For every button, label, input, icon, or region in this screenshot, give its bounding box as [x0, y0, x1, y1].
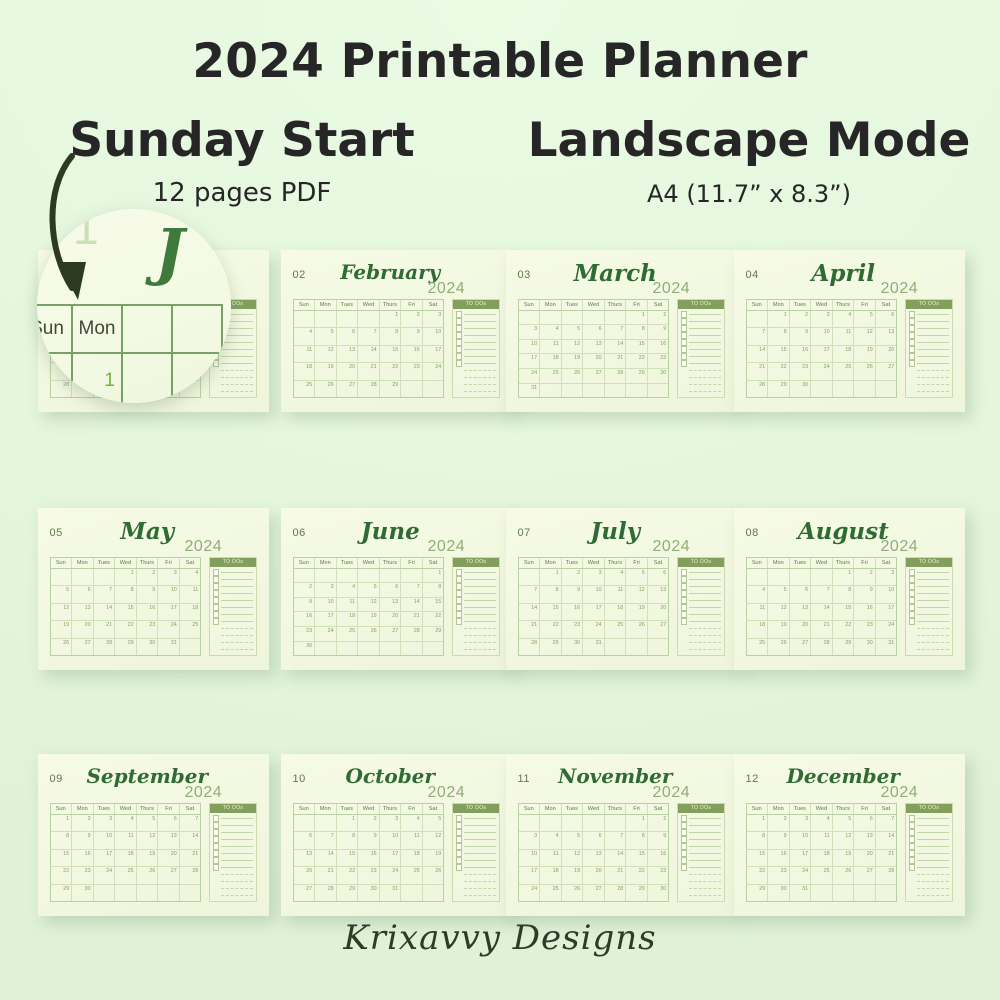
- day-cell[interactable]: 29: [626, 369, 648, 383]
- day-cell[interactable]: [562, 311, 584, 325]
- todo-row[interactable]: [213, 604, 254, 611]
- checkbox-icon[interactable]: [456, 843, 463, 850]
- day-cell[interactable]: [626, 384, 648, 398]
- checkbox-icon[interactable]: [213, 829, 220, 836]
- day-cell[interactable]: [180, 885, 201, 901]
- day-cell[interactable]: 23: [137, 621, 159, 637]
- day-cell[interactable]: 22: [626, 354, 648, 368]
- day-cell[interactable]: 10: [380, 832, 402, 848]
- day-cell[interactable]: 10: [423, 328, 444, 344]
- todo-row[interactable]: [213, 829, 254, 836]
- day-cell[interactable]: [540, 815, 562, 831]
- todo-row[interactable]: [681, 618, 722, 625]
- checkbox-icon[interactable]: [681, 332, 688, 339]
- checkbox-icon[interactable]: [213, 864, 220, 871]
- day-cell[interactable]: 12: [137, 832, 159, 848]
- checkbox-icon[interactable]: [681, 604, 688, 611]
- day-cell[interactable]: 14: [315, 850, 337, 866]
- todo-row-dashed[interactable]: [681, 367, 722, 374]
- day-cell[interactable]: 25: [337, 627, 359, 641]
- day-cell[interactable]: 10: [876, 586, 897, 602]
- todo-row[interactable]: [456, 836, 497, 843]
- todo-row-dashed[interactable]: [213, 878, 254, 885]
- checkbox-icon[interactable]: [909, 346, 916, 353]
- day-cell[interactable]: [648, 639, 669, 655]
- todo-row-dashed[interactable]: [213, 892, 254, 899]
- day-cell[interactable]: 22: [833, 621, 855, 637]
- day-cell[interactable]: 2: [72, 815, 94, 831]
- checkbox-icon[interactable]: [909, 597, 916, 604]
- day-cell[interactable]: 11: [605, 586, 627, 602]
- checkbox-icon[interactable]: [909, 569, 916, 576]
- checkbox-icon[interactable]: [213, 590, 220, 597]
- todo-row-dashed[interactable]: [681, 374, 722, 381]
- day-cell[interactable]: 21: [358, 363, 380, 379]
- checkbox-icon[interactable]: [213, 857, 220, 864]
- day-cell[interactable]: 6: [72, 586, 94, 602]
- day-cell[interactable]: 29: [51, 885, 73, 901]
- checkbox-icon[interactable]: [456, 339, 463, 346]
- day-cell[interactable]: 29: [423, 627, 444, 641]
- calendar-card-february[interactable]: 02February2024SunMonTuesWedThursFriSat12…: [281, 250, 512, 412]
- day-cell[interactable]: 14: [180, 832, 201, 848]
- day-cell[interactable]: 11: [747, 604, 769, 620]
- day-cell[interactable]: 17: [94, 850, 116, 866]
- day-cell[interactable]: 22: [768, 363, 790, 379]
- day-cell[interactable]: 30: [137, 639, 159, 655]
- todo-row[interactable]: [456, 360, 497, 367]
- day-cell[interactable]: 7: [605, 325, 627, 339]
- day-cell[interactable]: 30: [358, 885, 380, 901]
- day-cell[interactable]: 14: [401, 598, 423, 612]
- day-cell[interactable]: 11: [401, 832, 423, 848]
- checkbox-icon[interactable]: [213, 611, 220, 618]
- day-cell[interactable]: 1: [115, 569, 137, 585]
- day-cell[interactable]: 3: [158, 569, 180, 585]
- checkbox-icon[interactable]: [213, 836, 220, 843]
- todo-row-dashed[interactable]: [456, 646, 497, 653]
- day-cell[interactable]: 27: [583, 885, 605, 901]
- day-cell[interactable]: 9: [137, 586, 159, 602]
- day-cell[interactable]: 6: [583, 325, 605, 339]
- todo-row-dashed[interactable]: [909, 381, 950, 388]
- day-cell[interactable]: [876, 381, 897, 397]
- day-cell[interactable]: 29: [833, 639, 855, 655]
- day-cell[interactable]: 23: [294, 627, 316, 641]
- day-cell[interactable]: 23: [401, 363, 423, 379]
- day-cell[interactable]: [72, 569, 94, 585]
- todo-row[interactable]: [456, 843, 497, 850]
- day-cell[interactable]: 11: [115, 832, 137, 848]
- day-cell[interactable]: 21: [605, 867, 627, 883]
- day-cell[interactable]: 26: [562, 885, 584, 901]
- day-cell[interactable]: 23: [358, 867, 380, 883]
- checkbox-icon[interactable]: [681, 864, 688, 871]
- day-cell[interactable]: 22: [115, 621, 137, 637]
- todo-row[interactable]: [213, 822, 254, 829]
- day-cell[interactable]: 18: [833, 346, 855, 362]
- todo-row[interactable]: [456, 569, 497, 576]
- todo-row[interactable]: [681, 339, 722, 346]
- calendar-card-december[interactable]: 12December2024SunMonTuesWedThursFriSat12…: [734, 754, 965, 916]
- day-cell[interactable]: 20: [380, 612, 402, 626]
- day-cell[interactable]: 4: [540, 832, 562, 848]
- day-cell[interactable]: 6: [583, 832, 605, 848]
- todo-row-dashed[interactable]: [213, 625, 254, 632]
- day-cell[interactable]: 21: [519, 621, 541, 637]
- day-cell[interactable]: [401, 885, 423, 901]
- todo-row-dashed[interactable]: [456, 381, 497, 388]
- todo-row[interactable]: [681, 332, 722, 339]
- day-cell[interactable]: 16: [648, 340, 669, 354]
- day-cell[interactable]: 7: [315, 832, 337, 848]
- day-cell[interactable]: 4: [294, 328, 316, 344]
- day-cell[interactable]: 3: [519, 325, 541, 339]
- day-cell[interactable]: 10: [315, 598, 337, 612]
- todo-row[interactable]: [681, 325, 722, 332]
- todo-row-dashed[interactable]: [909, 388, 950, 395]
- todo-row[interactable]: [456, 346, 497, 353]
- day-cell[interactable]: 2: [854, 569, 876, 585]
- day-cell[interactable]: 9: [401, 328, 423, 344]
- day-cell[interactable]: 1: [51, 815, 73, 831]
- day-cell[interactable]: 6: [854, 815, 876, 831]
- day-cell[interactable]: 4: [115, 815, 137, 831]
- day-cell[interactable]: 18: [180, 604, 201, 620]
- todo-row[interactable]: [681, 576, 722, 583]
- todo-row[interactable]: [909, 850, 950, 857]
- day-cell[interactable]: 11: [294, 346, 316, 362]
- day-cell[interactable]: 20: [337, 363, 359, 379]
- todo-row[interactable]: [213, 618, 254, 625]
- day-cell[interactable]: 24: [811, 363, 833, 379]
- day-cell[interactable]: [315, 569, 337, 583]
- day-cell[interactable]: 15: [337, 850, 359, 866]
- day-cell[interactable]: [876, 885, 897, 901]
- todo-row-dashed[interactable]: [681, 388, 722, 395]
- day-cell[interactable]: 4: [180, 569, 201, 585]
- day-cell[interactable]: [854, 381, 876, 397]
- day-cell[interactable]: 11: [180, 586, 201, 602]
- day-cell[interactable]: 7: [605, 832, 627, 848]
- day-cell[interactable]: 26: [562, 369, 584, 383]
- day-cell[interactable]: 1: [626, 311, 648, 325]
- day-cell[interactable]: 21: [401, 612, 423, 626]
- day-cell[interactable]: 21: [180, 850, 201, 866]
- day-cell[interactable]: 2: [648, 311, 669, 325]
- day-cell[interactable]: 6: [790, 586, 812, 602]
- checkbox-icon[interactable]: [681, 353, 688, 360]
- calendar-card-may[interactable]: 05May2024SunMonTuesWedThursFriSat1234567…: [38, 508, 269, 670]
- day-cell[interactable]: 13: [158, 832, 180, 848]
- day-cell[interactable]: 30: [294, 642, 316, 656]
- day-cell[interactable]: 18: [540, 354, 562, 368]
- day-cell[interactable]: 14: [605, 850, 627, 866]
- todo-row[interactable]: [456, 318, 497, 325]
- todo-row[interactable]: [456, 590, 497, 597]
- day-cell[interactable]: 13: [583, 340, 605, 354]
- day-cell[interactable]: 19: [833, 850, 855, 866]
- todo-row-dashed[interactable]: [909, 646, 950, 653]
- checkbox-icon[interactable]: [909, 360, 916, 367]
- todo-row[interactable]: [213, 815, 254, 822]
- day-cell[interactable]: [380, 642, 402, 656]
- day-cell[interactable]: [180, 639, 201, 655]
- day-cell[interactable]: 12: [768, 604, 790, 620]
- day-cell[interactable]: 15: [626, 340, 648, 354]
- day-cell[interactable]: [423, 885, 444, 901]
- checkbox-icon[interactable]: [681, 590, 688, 597]
- todo-row[interactable]: [681, 836, 722, 843]
- todo-row[interactable]: [213, 850, 254, 857]
- todo-row-dashed[interactable]: [213, 871, 254, 878]
- checkbox-icon[interactable]: [456, 576, 463, 583]
- day-cell[interactable]: 9: [358, 832, 380, 848]
- todo-row[interactable]: [909, 618, 950, 625]
- day-cell[interactable]: 15: [768, 346, 790, 362]
- day-cell[interactable]: 28: [811, 639, 833, 655]
- checkbox-icon[interactable]: [681, 597, 688, 604]
- todo-row-dashed[interactable]: [681, 625, 722, 632]
- todo-row-dashed[interactable]: [909, 885, 950, 892]
- todo-row[interactable]: [456, 325, 497, 332]
- day-cell[interactable]: 9: [72, 832, 94, 848]
- day-cell[interactable]: 28: [401, 627, 423, 641]
- todo-row[interactable]: [456, 829, 497, 836]
- day-cell[interactable]: [562, 815, 584, 831]
- day-cell[interactable]: 10: [158, 586, 180, 602]
- checkbox-icon[interactable]: [213, 815, 220, 822]
- todo-row-dashed[interactable]: [456, 892, 497, 899]
- todo-row[interactable]: [456, 576, 497, 583]
- todo-row-dashed[interactable]: [456, 374, 497, 381]
- checkbox-icon[interactable]: [681, 815, 688, 822]
- day-cell[interactable]: 5: [626, 569, 648, 585]
- todo-row[interactable]: [681, 850, 722, 857]
- day-cell[interactable]: 20: [876, 346, 897, 362]
- day-cell[interactable]: [358, 569, 380, 583]
- day-cell[interactable]: 22: [540, 621, 562, 637]
- checkbox-icon[interactable]: [681, 843, 688, 850]
- day-cell[interactable]: 26: [768, 639, 790, 655]
- day-cell[interactable]: 30: [854, 639, 876, 655]
- day-cell[interactable]: 23: [768, 867, 790, 883]
- checkbox-icon[interactable]: [213, 850, 220, 857]
- day-cell[interactable]: 18: [605, 604, 627, 620]
- day-cell[interactable]: 8: [337, 832, 359, 848]
- day-cell[interactable]: 17: [380, 850, 402, 866]
- day-cell[interactable]: 2: [358, 815, 380, 831]
- day-cell[interactable]: 22: [423, 612, 444, 626]
- day-cell[interactable]: [605, 815, 627, 831]
- checkbox-icon[interactable]: [909, 583, 916, 590]
- day-cell[interactable]: 2: [648, 815, 669, 831]
- day-cell[interactable]: 17: [876, 604, 897, 620]
- day-cell[interactable]: 3: [380, 815, 402, 831]
- day-cell[interactable]: [401, 642, 423, 656]
- day-cell[interactable]: 27: [158, 867, 180, 883]
- checkbox-icon[interactable]: [909, 311, 916, 318]
- day-cell[interactable]: 7: [180, 815, 201, 831]
- todo-row[interactable]: [456, 339, 497, 346]
- checkbox-icon[interactable]: [909, 318, 916, 325]
- day-cell[interactable]: 30: [790, 381, 812, 397]
- todo-row[interactable]: [213, 611, 254, 618]
- todo-row-dashed[interactable]: [909, 639, 950, 646]
- day-cell[interactable]: 26: [833, 867, 855, 883]
- checkbox-icon[interactable]: [909, 829, 916, 836]
- day-cell[interactable]: 28: [605, 369, 627, 383]
- todo-row[interactable]: [456, 353, 497, 360]
- day-cell[interactable]: 12: [562, 850, 584, 866]
- day-cell[interactable]: 1: [380, 311, 402, 327]
- day-cell[interactable]: [94, 885, 116, 901]
- day-cell[interactable]: 16: [790, 346, 812, 362]
- todo-row[interactable]: [909, 360, 950, 367]
- todo-row[interactable]: [909, 332, 950, 339]
- day-cell[interactable]: 25: [540, 885, 562, 901]
- checkbox-icon[interactable]: [909, 836, 916, 843]
- todo-row[interactable]: [681, 583, 722, 590]
- day-cell[interactable]: 5: [768, 586, 790, 602]
- day-cell[interactable]: 17: [519, 354, 541, 368]
- day-cell[interactable]: [519, 569, 541, 585]
- day-cell[interactable]: [380, 569, 402, 583]
- checkbox-icon[interactable]: [681, 618, 688, 625]
- day-cell[interactable]: 5: [423, 815, 444, 831]
- day-cell[interactable]: 4: [747, 586, 769, 602]
- todo-row[interactable]: [213, 843, 254, 850]
- day-cell[interactable]: 13: [337, 346, 359, 362]
- day-cell[interactable]: 16: [137, 604, 159, 620]
- day-cell[interactable]: 15: [626, 850, 648, 866]
- day-cell[interactable]: 29: [115, 639, 137, 655]
- day-cell[interactable]: 25: [180, 621, 201, 637]
- day-cell[interactable]: 3: [790, 815, 812, 831]
- day-cell[interactable]: 19: [768, 621, 790, 637]
- day-cell[interactable]: 23: [648, 867, 669, 883]
- day-cell[interactable]: [833, 885, 855, 901]
- day-cell[interactable]: 20: [583, 354, 605, 368]
- day-cell[interactable]: 20: [158, 850, 180, 866]
- todo-row[interactable]: [213, 857, 254, 864]
- checkbox-icon[interactable]: [909, 815, 916, 822]
- day-cell[interactable]: 2: [401, 311, 423, 327]
- day-cell[interactable]: 8: [51, 832, 73, 848]
- day-cell[interactable]: 17: [158, 604, 180, 620]
- day-cell[interactable]: [294, 311, 316, 327]
- day-cell[interactable]: 24: [158, 621, 180, 637]
- checkbox-icon[interactable]: [456, 604, 463, 611]
- day-cell[interactable]: 15: [423, 598, 444, 612]
- day-cell[interactable]: 22: [747, 867, 769, 883]
- day-cell[interactable]: 27: [583, 369, 605, 383]
- day-cell[interactable]: 3: [811, 311, 833, 327]
- day-cell[interactable]: 10: [519, 340, 541, 354]
- day-cell[interactable]: [605, 384, 627, 398]
- day-cell[interactable]: 9: [562, 586, 584, 602]
- day-cell[interactable]: 28: [315, 885, 337, 901]
- checkbox-icon[interactable]: [909, 822, 916, 829]
- day-cell[interactable]: 19: [562, 354, 584, 368]
- todo-row[interactable]: [909, 611, 950, 618]
- checkbox-icon[interactable]: [213, 576, 220, 583]
- day-cell[interactable]: 15: [747, 850, 769, 866]
- todo-row-dashed[interactable]: [456, 367, 497, 374]
- checkbox-icon[interactable]: [456, 569, 463, 576]
- checkbox-icon[interactable]: [456, 590, 463, 597]
- calendar-card-june[interactable]: 06June2024SunMonTuesWedThursFriSat123456…: [281, 508, 512, 670]
- day-cell[interactable]: 16: [854, 604, 876, 620]
- day-cell[interactable]: 14: [358, 346, 380, 362]
- day-cell[interactable]: 21: [747, 363, 769, 379]
- checkbox-icon[interactable]: [456, 857, 463, 864]
- day-cell[interactable]: 18: [811, 850, 833, 866]
- todo-row[interactable]: [456, 583, 497, 590]
- day-cell[interactable]: 27: [294, 885, 316, 901]
- day-cell[interactable]: [315, 311, 337, 327]
- day-cell[interactable]: 3: [519, 832, 541, 848]
- day-cell[interactable]: 15: [380, 346, 402, 362]
- checkbox-icon[interactable]: [681, 325, 688, 332]
- day-cell[interactable]: [790, 569, 812, 585]
- checkbox-icon[interactable]: [681, 583, 688, 590]
- day-cell[interactable]: 28: [747, 381, 769, 397]
- day-cell[interactable]: 3: [315, 583, 337, 597]
- day-cell[interactable]: 27: [72, 639, 94, 655]
- checkbox-icon[interactable]: [681, 318, 688, 325]
- checkbox-icon[interactable]: [456, 332, 463, 339]
- day-cell[interactable]: 30: [768, 885, 790, 901]
- day-cell[interactable]: 6: [337, 328, 359, 344]
- checkbox-icon[interactable]: [681, 576, 688, 583]
- day-cell[interactable]: 5: [137, 815, 159, 831]
- day-cell[interactable]: 10: [94, 832, 116, 848]
- day-cell[interactable]: 27: [380, 627, 402, 641]
- todo-row[interactable]: [456, 850, 497, 857]
- checkbox-icon[interactable]: [681, 850, 688, 857]
- checkbox-icon[interactable]: [456, 611, 463, 618]
- day-cell[interactable]: 7: [401, 583, 423, 597]
- todo-row[interactable]: [909, 597, 950, 604]
- day-cell[interactable]: 16: [562, 604, 584, 620]
- todo-row-dashed[interactable]: [681, 878, 722, 885]
- day-cell[interactable]: 8: [540, 586, 562, 602]
- day-cell[interactable]: 22: [380, 363, 402, 379]
- day-cell[interactable]: 14: [747, 346, 769, 362]
- todo-row-dashed[interactable]: [456, 878, 497, 885]
- todo-row[interactable]: [909, 325, 950, 332]
- day-cell[interactable]: 20: [294, 867, 316, 883]
- day-cell[interactable]: 1: [626, 815, 648, 831]
- todo-row[interactable]: [213, 597, 254, 604]
- todo-row-dashed[interactable]: [681, 871, 722, 878]
- todo-row[interactable]: [456, 815, 497, 822]
- calendar-card-march[interactable]: 03March2024SunMonTuesWedThursFriSat12345…: [506, 250, 737, 412]
- checkbox-icon[interactable]: [909, 857, 916, 864]
- day-cell[interactable]: 13: [648, 586, 669, 602]
- day-cell[interactable]: 25: [747, 639, 769, 655]
- day-cell[interactable]: 28: [605, 885, 627, 901]
- todo-row[interactable]: [909, 311, 950, 318]
- checkbox-icon[interactable]: [909, 339, 916, 346]
- day-cell[interactable]: 31: [519, 384, 541, 398]
- day-cell[interactable]: 17: [519, 867, 541, 883]
- day-cell[interactable]: 31: [380, 885, 402, 901]
- day-cell[interactable]: 13: [72, 604, 94, 620]
- day-cell[interactable]: [519, 311, 541, 325]
- day-cell[interactable]: 28: [358, 381, 380, 397]
